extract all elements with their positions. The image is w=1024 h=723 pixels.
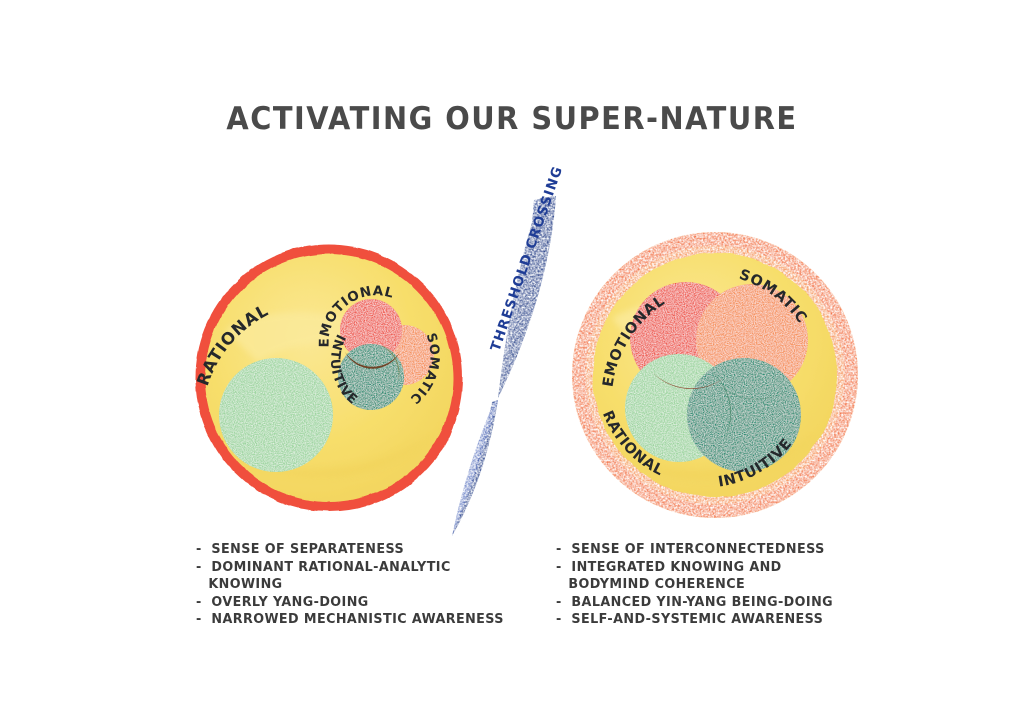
- bullet-item: - SENSE OF SEPARATENESS: [196, 541, 504, 559]
- right-diagram[interactable]: EMOTIONAL SOMATIC RATIONAL INTUITIVE: [579, 239, 851, 511]
- bullet-item: - INTEGRATED KNOWING AND: [556, 559, 833, 577]
- bullet-item: - DOMINANT RATIONAL-ANALYTIC: [196, 559, 504, 577]
- threshold-lower-lens-b: [452, 400, 498, 536]
- bullet-item: - OVERLY YANG-DOING: [196, 594, 504, 612]
- bullet-item: BODYMIND COHERENCE: [556, 576, 833, 594]
- bullet-item: KNOWING: [196, 576, 504, 594]
- poster-canvas: ACTIVATING OUR SUPER-NATURE: [0, 0, 1024, 723]
- bullet-item: - SENSE OF INTERCONNECTEDNESS: [556, 541, 833, 559]
- bullet-item: - SELF-AND-SYSTEMIC AWARENESS: [556, 611, 833, 629]
- diagram-figure: RATIONAL EMOTIONAL SOMATIC INTUITIVE THR…: [0, 0, 1024, 723]
- left-blob-rational[interactable]: [219, 358, 333, 472]
- left-diagram[interactable]: RATIONAL EMOTIONAL SOMATIC INTUITIVE: [193, 250, 457, 507]
- bullet-item: - NARROWED MECHANISTIC AWARENESS: [196, 611, 504, 629]
- left-bullet-list: - SENSE OF SEPARATENESS- DOMINANT RATION…: [196, 541, 504, 629]
- bullet-item: - BALANCED YIN-YANG BEING-DOING: [556, 594, 833, 612]
- threshold-crossing[interactable]: THRESHOLD CROSSING: [452, 164, 566, 536]
- right-bullet-list: - SENSE OF INTERCONNECTEDNESS- INTEGRATE…: [556, 541, 833, 629]
